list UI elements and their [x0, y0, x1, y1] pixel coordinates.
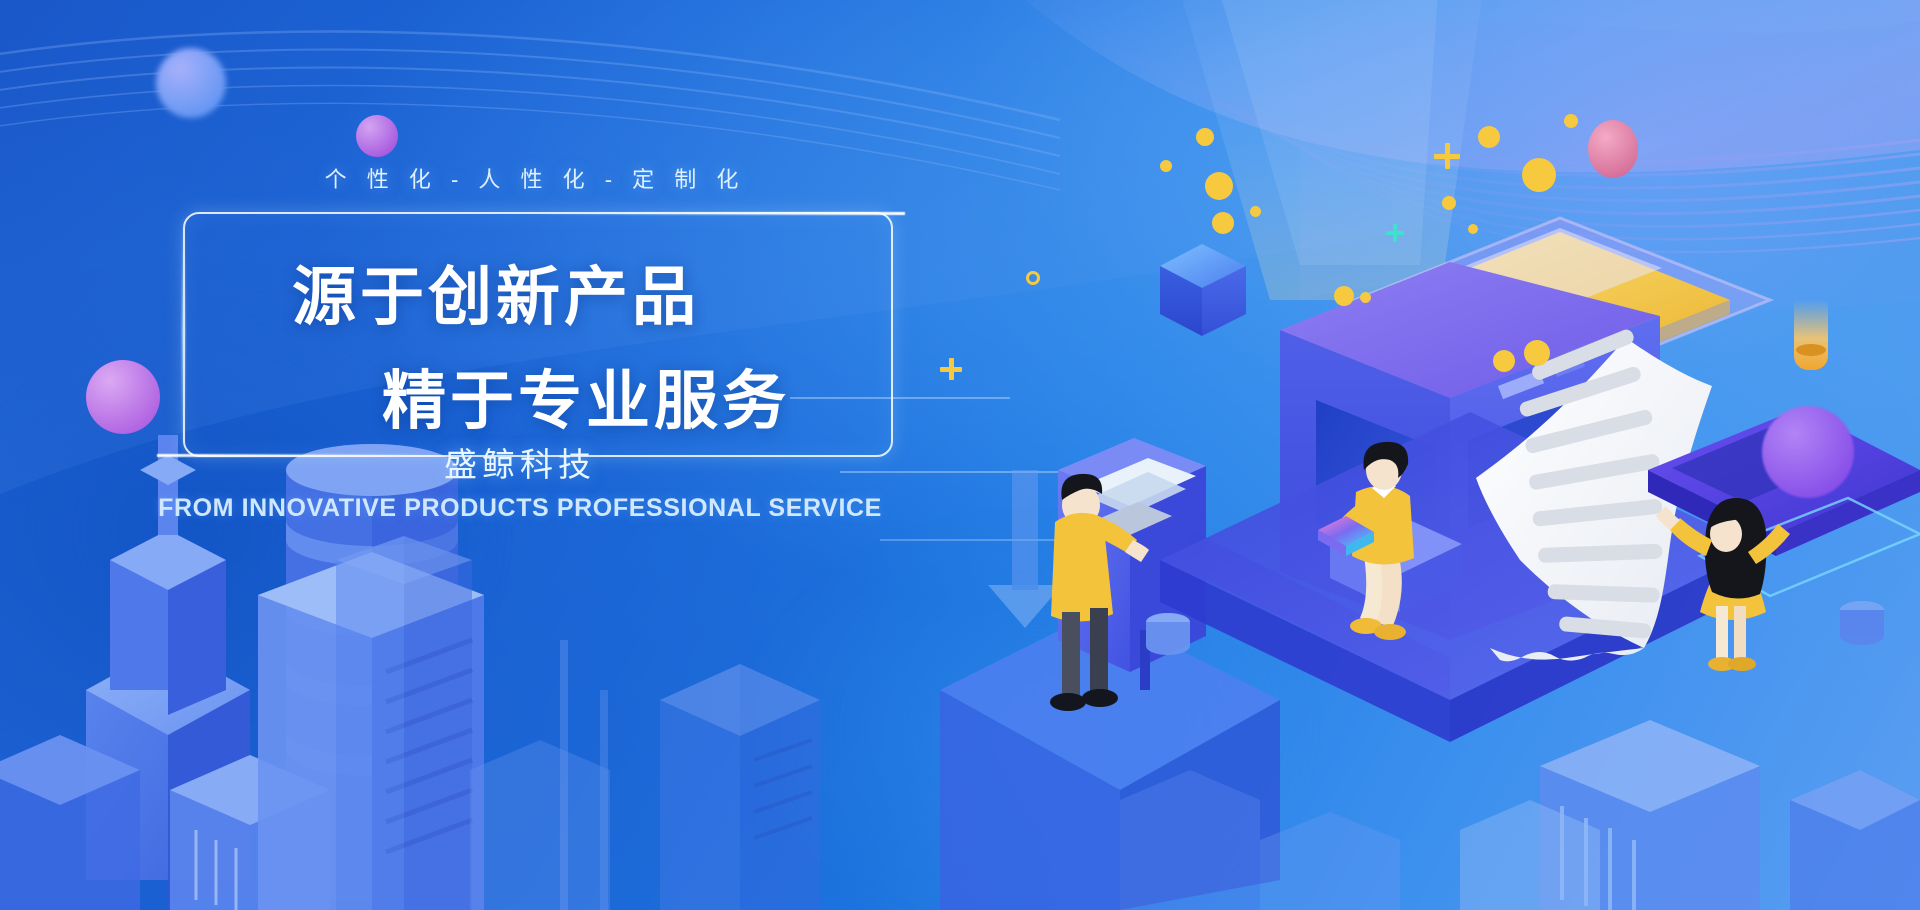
pink-sphere-right	[1588, 120, 1638, 178]
down-arrow-marker	[988, 470, 1062, 628]
mid-city-buildings	[336, 536, 608, 910]
plus-marker-yellow	[940, 358, 962, 380]
right-city-buildings	[1120, 720, 1920, 910]
yellow-dot	[1250, 206, 1261, 217]
ring-marker	[1026, 271, 1040, 285]
center-bottom-buildings	[470, 664, 820, 910]
yellow-dot	[1524, 340, 1550, 366]
plus-marker-cyan	[1386, 224, 1404, 242]
yellow-dot	[1160, 160, 1172, 172]
standing-woman-reaching	[1656, 498, 1790, 671]
yellow-dot	[1478, 126, 1500, 148]
english-tagline: FROM INNOVATIVE PRODUCTS PROFESSIONAL SE…	[120, 494, 920, 523]
purple-sphere-top	[356, 115, 398, 157]
headline-line-2: 精于专业服务	[382, 350, 790, 442]
man-at-kiosk-terminal	[940, 438, 1280, 910]
yellow-dot	[1196, 128, 1214, 146]
yellow-dot	[1205, 172, 1233, 200]
yellow-dot	[1564, 114, 1578, 128]
background-blob-right	[1260, 0, 1920, 460]
yellow-dot	[1360, 292, 1371, 303]
printed-receipt-scroll	[1476, 328, 1712, 662]
blue-sphere-top-left	[156, 48, 226, 118]
brand-name: 盛鲸科技	[200, 438, 840, 486]
hero-banner: 个 性 化 - 人 性 化 - 定 制 化 源于创新产品 精于专业服务 盛鲸科技…	[0, 0, 1920, 910]
yellow-dot	[1493, 350, 1515, 372]
floor-cylinders	[1146, 601, 1884, 655]
headline-frame-glow	[182, 215, 185, 455]
purple-sphere-left	[86, 360, 160, 434]
yellow-dot	[1442, 196, 1456, 210]
floating-cube	[1160, 244, 1246, 336]
gold-cylinder	[1794, 300, 1828, 370]
yellow-dot	[1212, 212, 1234, 234]
violet-sphere-bottom-right	[1762, 406, 1854, 498]
kicker-text: 个 性 化 - 人 性 化 - 定 制 化	[320, 162, 750, 194]
yellow-dot	[1334, 286, 1354, 306]
yellow-dot	[1468, 224, 1478, 234]
plus-marker-yellow	[1434, 143, 1460, 169]
yellow-dot	[1522, 158, 1556, 192]
headline-line-1: 源于创新产品	[292, 246, 700, 338]
seated-woman-with-laptop	[1318, 442, 1462, 640]
